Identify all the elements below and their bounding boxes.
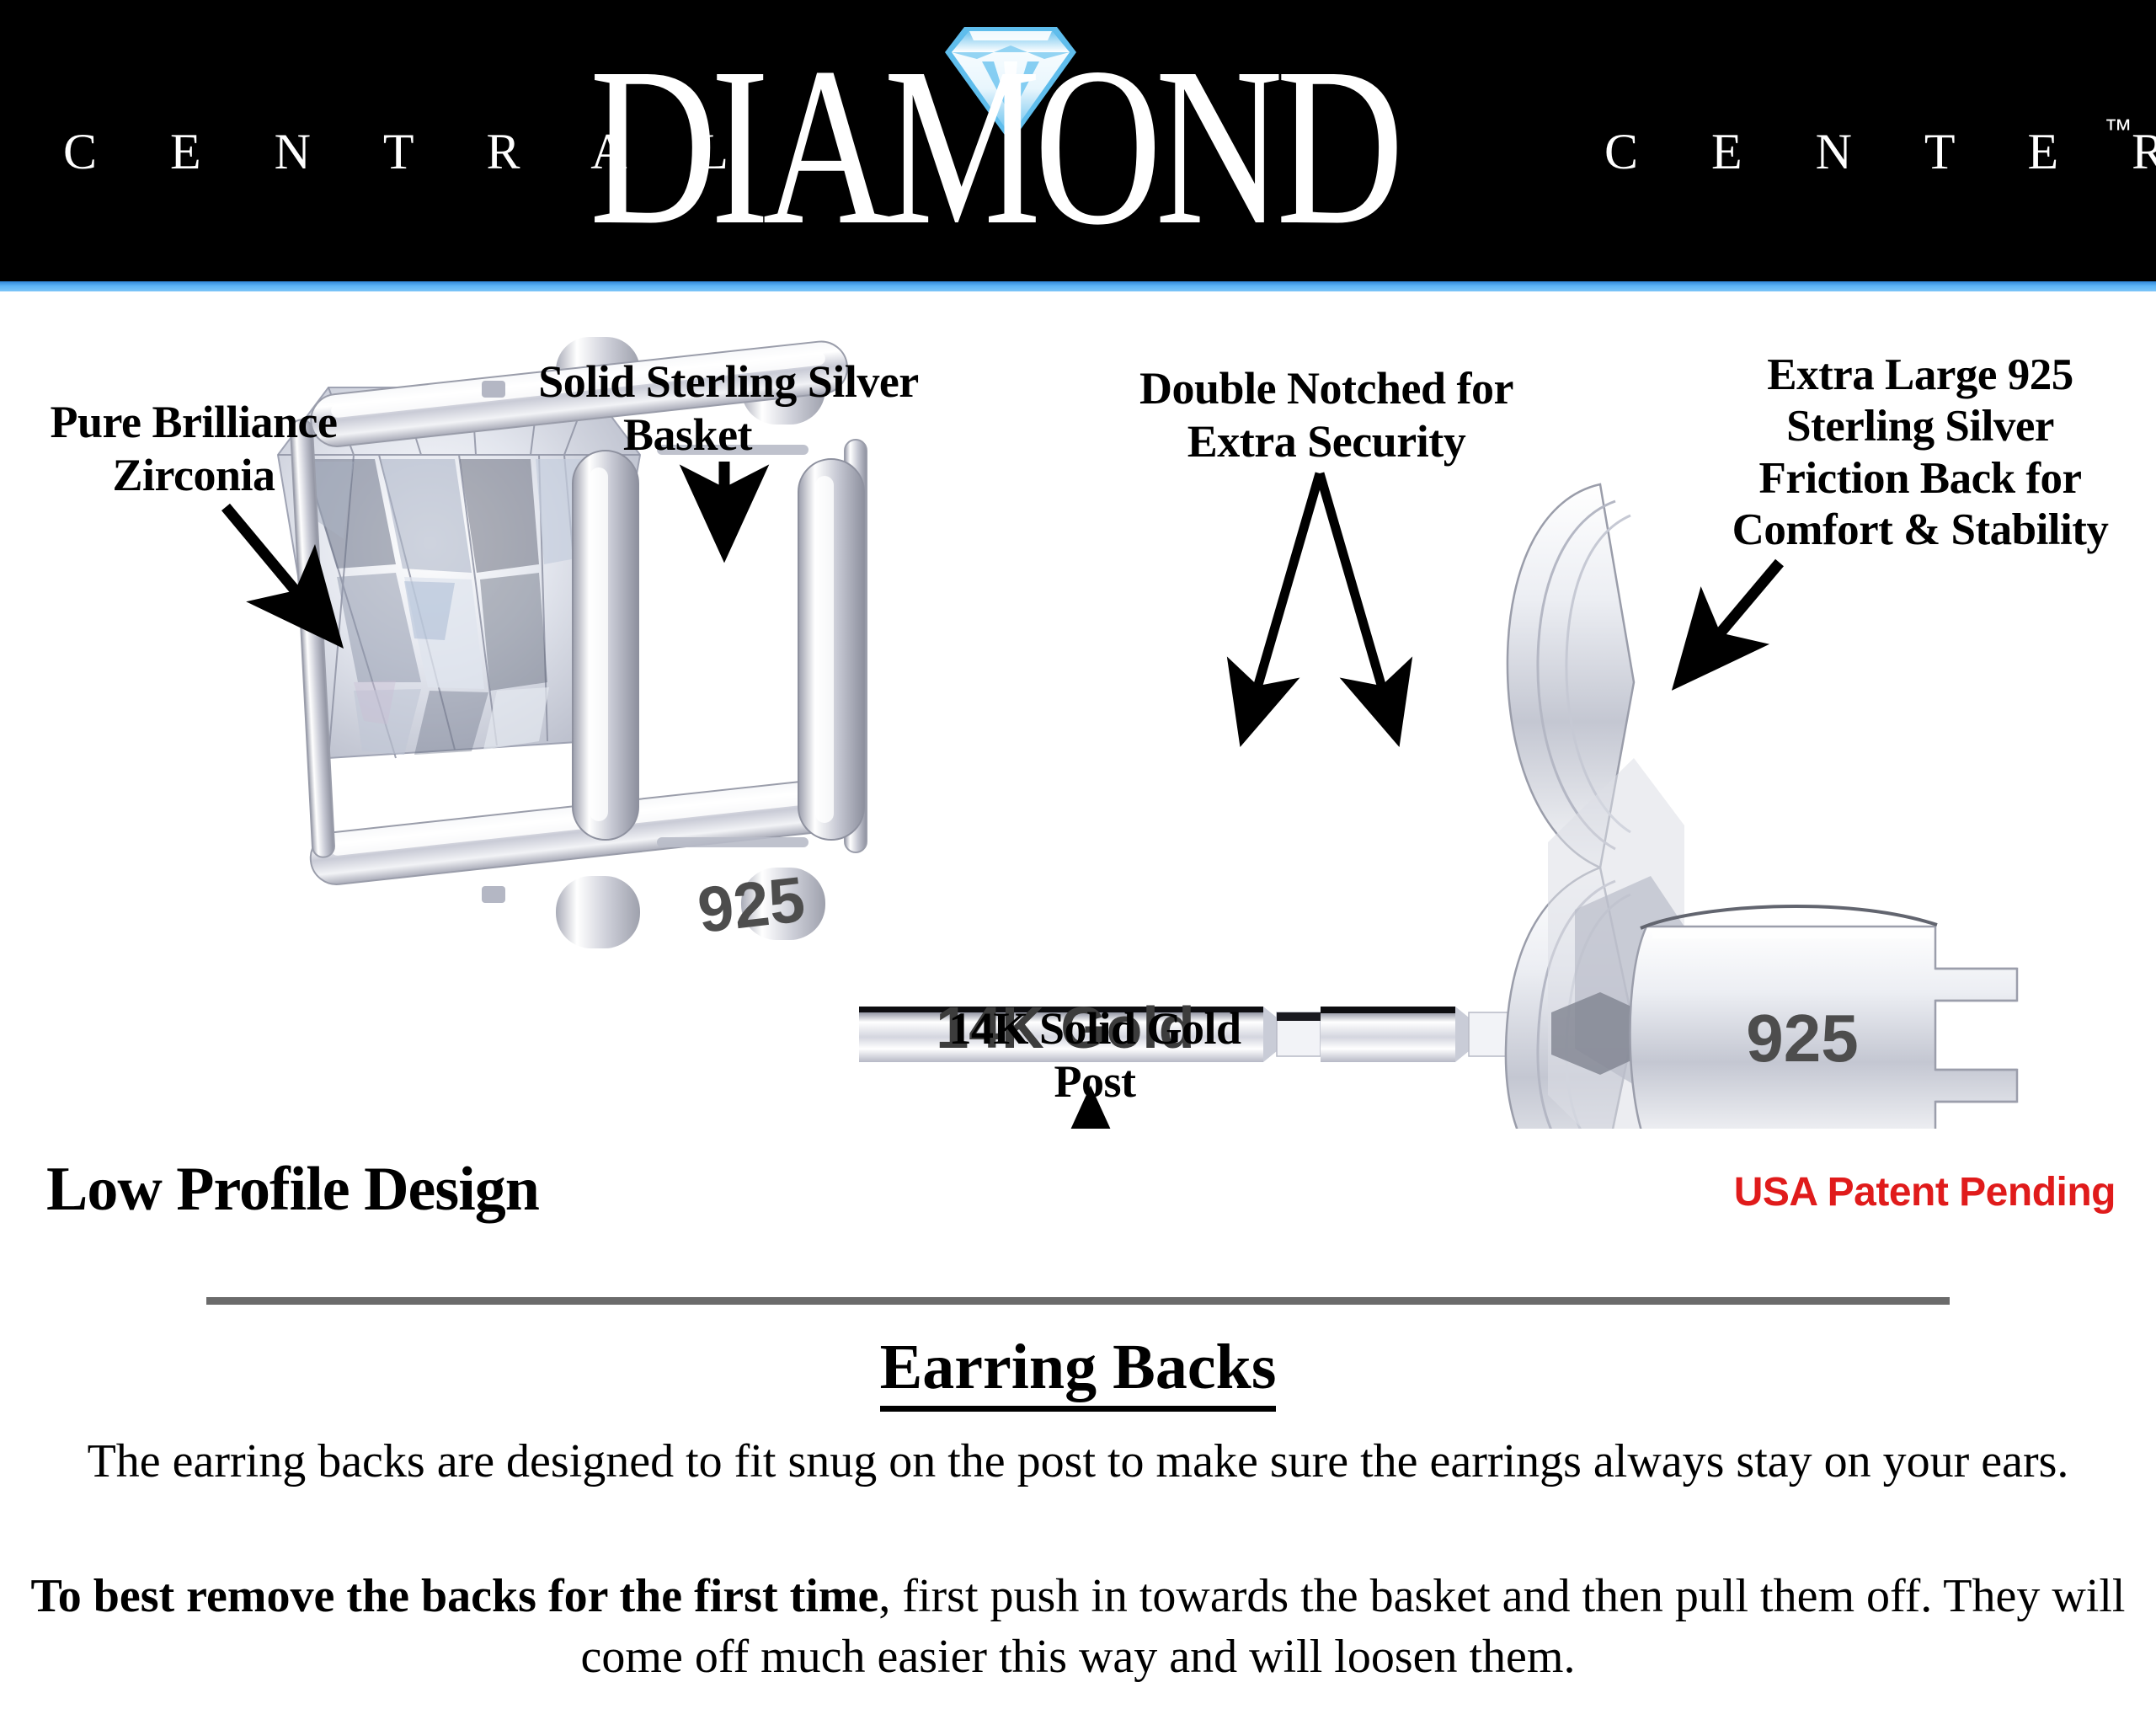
callout-double-notched: Double Notched for Extra Security	[1112, 362, 1541, 467]
callout-zirconia: Pure Brilliance Zirconia	[25, 396, 362, 501]
back-925-stamp: 925	[1746, 1001, 1858, 1076]
arrow-notch-right	[1320, 473, 1395, 731]
callout-friction-line2: Sterling Silver	[1710, 401, 2131, 452]
brand-main-word: DIAMOND	[590, 34, 1397, 260]
earring-backs-heading: Earring Backs	[0, 1331, 2156, 1404]
callout-basket: Solid Sterling Silver Basket	[505, 355, 952, 461]
callout-post-line2: Post	[918, 1055, 1272, 1108]
callout-post-line1: 14K Solid Gold	[918, 1002, 1272, 1055]
callout-friction-line1: Extra Large 925	[1710, 350, 2131, 401]
arrow-friction-back	[1684, 563, 1780, 676]
brand-header-inner: C E N T R A L DIAMOND C E N T E R ™	[0, 0, 2156, 281]
low-profile-design-heading: Low Profile Design	[46, 1154, 539, 1226]
paragraph-2-bold-lead: To best remove the backs for the first t…	[31, 1570, 879, 1622]
usa-patent-pending-badge: USA Patent Pending	[1734, 1169, 2116, 1215]
callout-friction-line4: Comfort & Stability	[1710, 505, 2131, 556]
basket-925-stamp: 925	[694, 863, 808, 947]
section-divider	[206, 1297, 1950, 1305]
callout-zirconia-line2: Zirconia	[25, 449, 362, 502]
arrow-notch-left	[1245, 473, 1320, 731]
callout-notched-line1: Double Notched for	[1112, 362, 1541, 415]
earring-backs-heading-text: Earring Backs	[880, 1332, 1277, 1412]
earring-backs-paragraph-2: To best remove the backs for the first t…	[0, 1567, 2156, 1687]
callout-notched-line2: Extra Security	[1112, 415, 1541, 468]
callout-friction-line3: Friction Back for	[1710, 453, 2131, 505]
callout-basket-line1: Solid Sterling Silver	[505, 355, 952, 409]
callout-basket-line2: Basket	[505, 409, 952, 462]
brand-right-word: C E N T E R	[1604, 126, 2156, 177]
callout-friction-back: Extra Large 925 Sterling Silver Friction…	[1710, 350, 2131, 557]
earring-backs-paragraph-1: The earring backs are designed to fit sn…	[0, 1432, 2156, 1493]
callout-gold-post: 14K Solid Gold Post	[918, 1002, 1272, 1108]
trademark-symbol: ™	[2104, 114, 2132, 147]
callout-zirconia-line1: Pure Brilliance	[25, 396, 362, 449]
brand-header: C E N T R A L DIAMOND C E N T E R ™	[0, 0, 2156, 281]
